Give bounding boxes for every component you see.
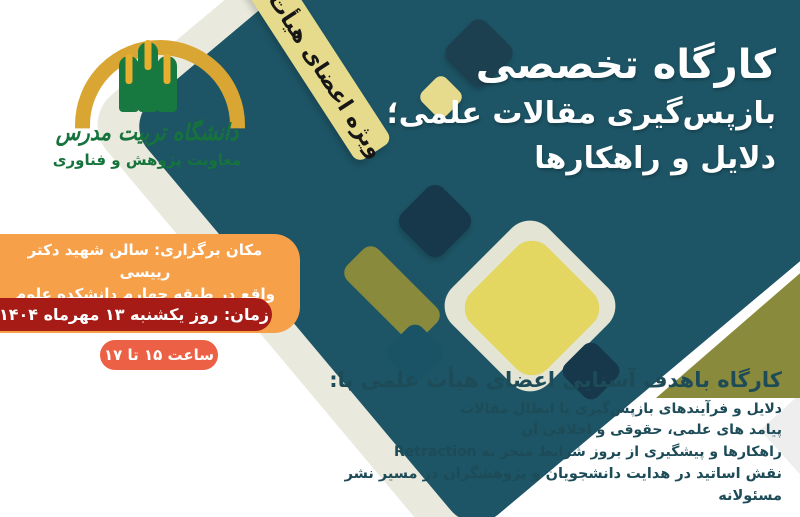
goals-section: کارگاه باهدف آشنایی اعضای هیأت علمی با: …: [312, 368, 782, 507]
university-name: دانشگاه تربیت مدرس: [42, 118, 252, 146]
poster-canvas: دانشگاه تربیت مدرس معاونت پژوهش و فناوری…: [0, 0, 800, 517]
tulip-arc-emblem-icon: [67, 22, 227, 118]
goal-item: نقش اساتید در هدایت دانشجویان و پژوهشگرا…: [312, 463, 782, 507]
teal-diamond-mid: [394, 180, 476, 262]
title-line-1: کارگاه تخصصی: [346, 40, 776, 91]
olive-bar-diamond: [340, 242, 445, 347]
tulip-icon-center: [138, 42, 158, 112]
university-department: معاونت پژوهش و فناوری: [42, 151, 252, 169]
tulip-icon-right: [157, 56, 177, 112]
title-line-2: بازپس‌گیری مقالات علمی؛: [346, 91, 776, 136]
poster-title: کارگاه تخصصی بازپس‌گیری مقالات علمی؛ دلا…: [346, 40, 776, 181]
time-badge: ساعت ۱۵ تا ۱۷: [100, 340, 218, 370]
goal-item: دلایل و فرآیندهای بازپس‌گیری یا ابطال مق…: [312, 399, 782, 420]
date-badge: زمان: روز یکشنبه ۱۳ مهرماه ۱۴۰۴: [0, 298, 272, 331]
yellow-diamond-big: [456, 232, 609, 385]
venue-line-1: مکان برگزاری: سالن شهید دکتر رییسی: [8, 240, 282, 284]
goal-item: پیامد های علمی، حقوقی و اخلاقی آن: [312, 420, 782, 441]
goal-item: راهکارها و پیشگیری از بروز شرایط منجر به…: [312, 442, 782, 463]
title-line-3: دلایل و راهکارها: [346, 136, 776, 181]
university-logo: دانشگاه تربیت مدرس معاونت پژوهش و فناوری: [42, 22, 252, 169]
tulip-icon-left: [119, 56, 139, 112]
goals-heading: کارگاه باهدف آشنایی اعضای هیأت علمی با:: [312, 368, 782, 392]
